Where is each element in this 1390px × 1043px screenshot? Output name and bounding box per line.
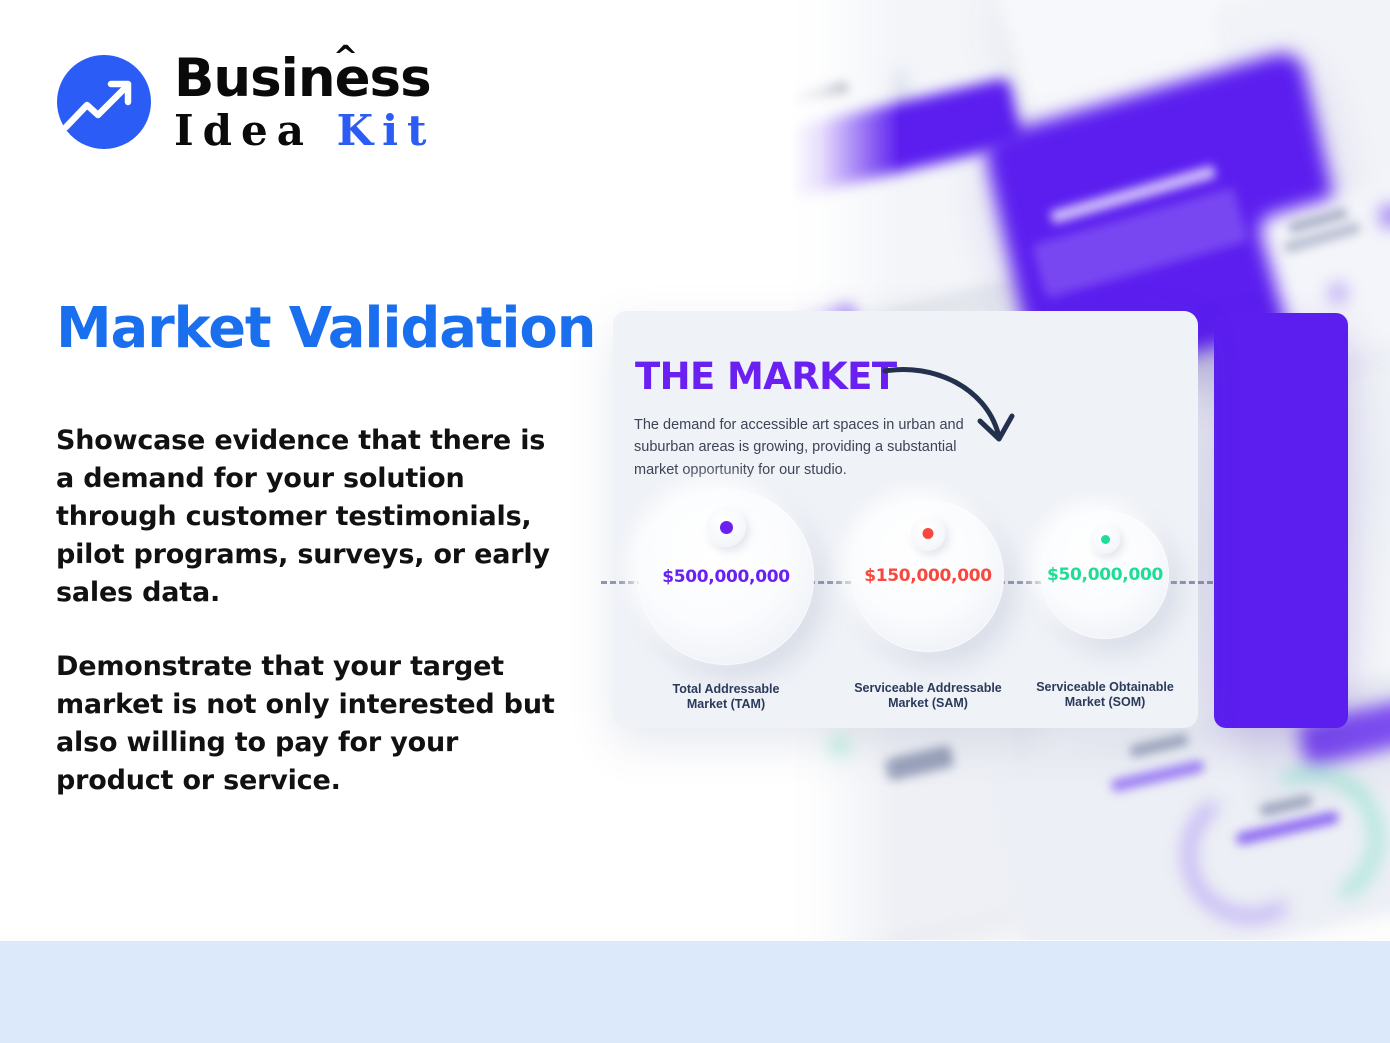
brand-logo[interactable]: Business ^ Idea Kit bbox=[56, 52, 435, 152]
metric-knob-som bbox=[1090, 524, 1120, 554]
bottom-color-band bbox=[0, 941, 1390, 1043]
metric-circle-som: $50,000,000 bbox=[1041, 511, 1169, 639]
market-metrics-group: $500,000,000 Total Addressable Market (T… bbox=[613, 311, 1198, 728]
metric-knob-tam bbox=[706, 507, 746, 547]
market-slide-card[interactable]: THE MARKET The demand for accessible art… bbox=[613, 311, 1198, 728]
brand-name-line1: Business ^ bbox=[174, 52, 435, 105]
description-paragraph-2: Demonstrate that your target market is n… bbox=[56, 648, 566, 800]
metric-label-sam: Serviceable Addressable Market (SAM) bbox=[835, 681, 1021, 712]
purple-dot-icon bbox=[720, 521, 733, 534]
metric-tam[interactable]: $500,000,000 Total Addressable Market (T… bbox=[633, 489, 819, 713]
metric-circle-sam: $150,000,000 bbox=[852, 500, 1004, 652]
green-dot-icon bbox=[1101, 535, 1110, 544]
purple-accent-panel bbox=[1214, 313, 1348, 728]
metric-value-tam: $500,000,000 bbox=[662, 567, 790, 587]
metric-circle-tam: $500,000,000 bbox=[638, 489, 814, 665]
metric-value-sam: $150,000,000 bbox=[864, 566, 992, 586]
red-dot-icon bbox=[923, 528, 934, 539]
metric-label-som: Serviceable Obtainable Market (SOM) bbox=[1023, 680, 1187, 711]
brand-wordmark: Business ^ Idea Kit bbox=[174, 52, 435, 152]
metric-som[interactable]: $50,000,000 Serviceable Obtainable Marke… bbox=[1023, 511, 1187, 711]
page-title: Market Validation bbox=[56, 296, 595, 361]
metric-sam[interactable]: $150,000,000 Serviceable Addressable Mar… bbox=[835, 500, 1021, 712]
metric-value-som: $50,000,000 bbox=[1047, 565, 1163, 585]
metric-label-tam: Total Addressable Market (TAM) bbox=[633, 682, 819, 713]
metric-knob-sam bbox=[911, 516, 946, 551]
description-paragraph-1: Showcase evidence that there is a demand… bbox=[56, 422, 566, 612]
circumflex-accent-icon: ^ bbox=[333, 43, 357, 73]
brand-name-line2: Idea Kit bbox=[174, 110, 435, 152]
bg-green-dot-icon bbox=[825, 735, 847, 757]
slide-root: Business ^ Idea Kit Market Validation Sh… bbox=[0, 0, 1390, 1043]
brand-name-text: Business bbox=[174, 48, 431, 109]
brand-kit-text: Kit bbox=[337, 106, 436, 155]
growth-arrow-icon bbox=[56, 54, 152, 150]
bg-purple-dot-b bbox=[1330, 285, 1346, 301]
brand-idea-text: Idea bbox=[174, 106, 337, 155]
